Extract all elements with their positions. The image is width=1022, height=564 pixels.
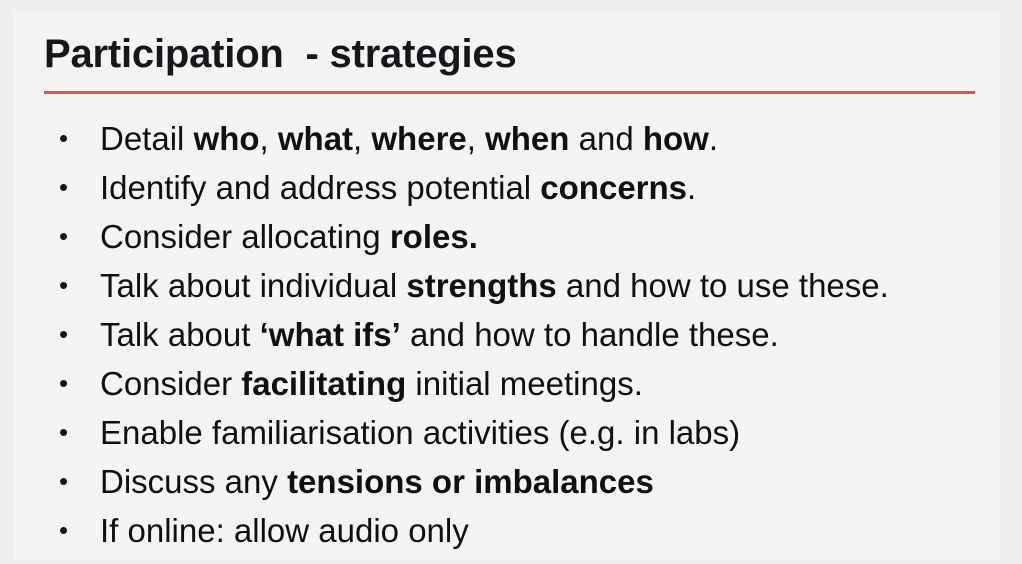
list-item: •Detail who, what, where, when and how. bbox=[32, 114, 992, 163]
list-item-label: Consider facilitating initial meetings. bbox=[100, 365, 643, 402]
slide-canvas: Participation - strategies •Detail who, … bbox=[14, 12, 1000, 560]
list-item-label: Discuss any tensions or imbalances bbox=[100, 463, 654, 500]
bullet-point-icon: • bbox=[59, 114, 75, 163]
bullet-point-icon: • bbox=[59, 163, 75, 212]
list-item: •Talk about individual strengths and how… bbox=[32, 261, 992, 310]
bullet-point-icon: • bbox=[59, 359, 75, 408]
list-item-label: Enable familiarisation activities (e.g. … bbox=[100, 414, 740, 451]
list-item: •Consider allocating roles. bbox=[32, 212, 992, 261]
list-item-label: Talk about individual strengths and how … bbox=[100, 267, 889, 304]
bullet-list: •Detail who, what, where, when and how.•… bbox=[32, 114, 992, 555]
bullet-point-icon: • bbox=[59, 212, 75, 261]
list-item-label: Talk about ‘what ifs’ and how to handle … bbox=[100, 316, 779, 353]
title-underline-rule bbox=[44, 91, 975, 94]
list-item: •If online: allow audio only bbox=[32, 506, 992, 555]
list-item-label: Identify and address potential concerns. bbox=[100, 169, 696, 206]
bullet-point-icon: • bbox=[59, 310, 75, 359]
list-item: •Identify and address potential concerns… bbox=[32, 163, 992, 212]
bullet-point-icon: • bbox=[59, 457, 75, 506]
list-item: •Enable familiarisation activities (e.g.… bbox=[32, 408, 992, 457]
list-item-label: Consider allocating roles. bbox=[100, 218, 478, 255]
bullet-point-icon: • bbox=[59, 408, 75, 457]
slide-frame: Participation - strategies •Detail who, … bbox=[0, 0, 1022, 564]
page-title: Participation - strategies bbox=[44, 32, 974, 76]
list-item: •Talk about ‘what ifs’ and how to handle… bbox=[32, 310, 992, 359]
bullet-point-icon: • bbox=[59, 261, 75, 310]
bullet-point-icon: • bbox=[59, 506, 75, 555]
list-item-label: Detail who, what, where, when and how. bbox=[100, 120, 718, 157]
list-item-label: If online: allow audio only bbox=[100, 512, 469, 549]
list-item: •Consider facilitating initial meetings. bbox=[32, 359, 992, 408]
list-item: •Discuss any tensions or imbalances bbox=[32, 457, 992, 506]
